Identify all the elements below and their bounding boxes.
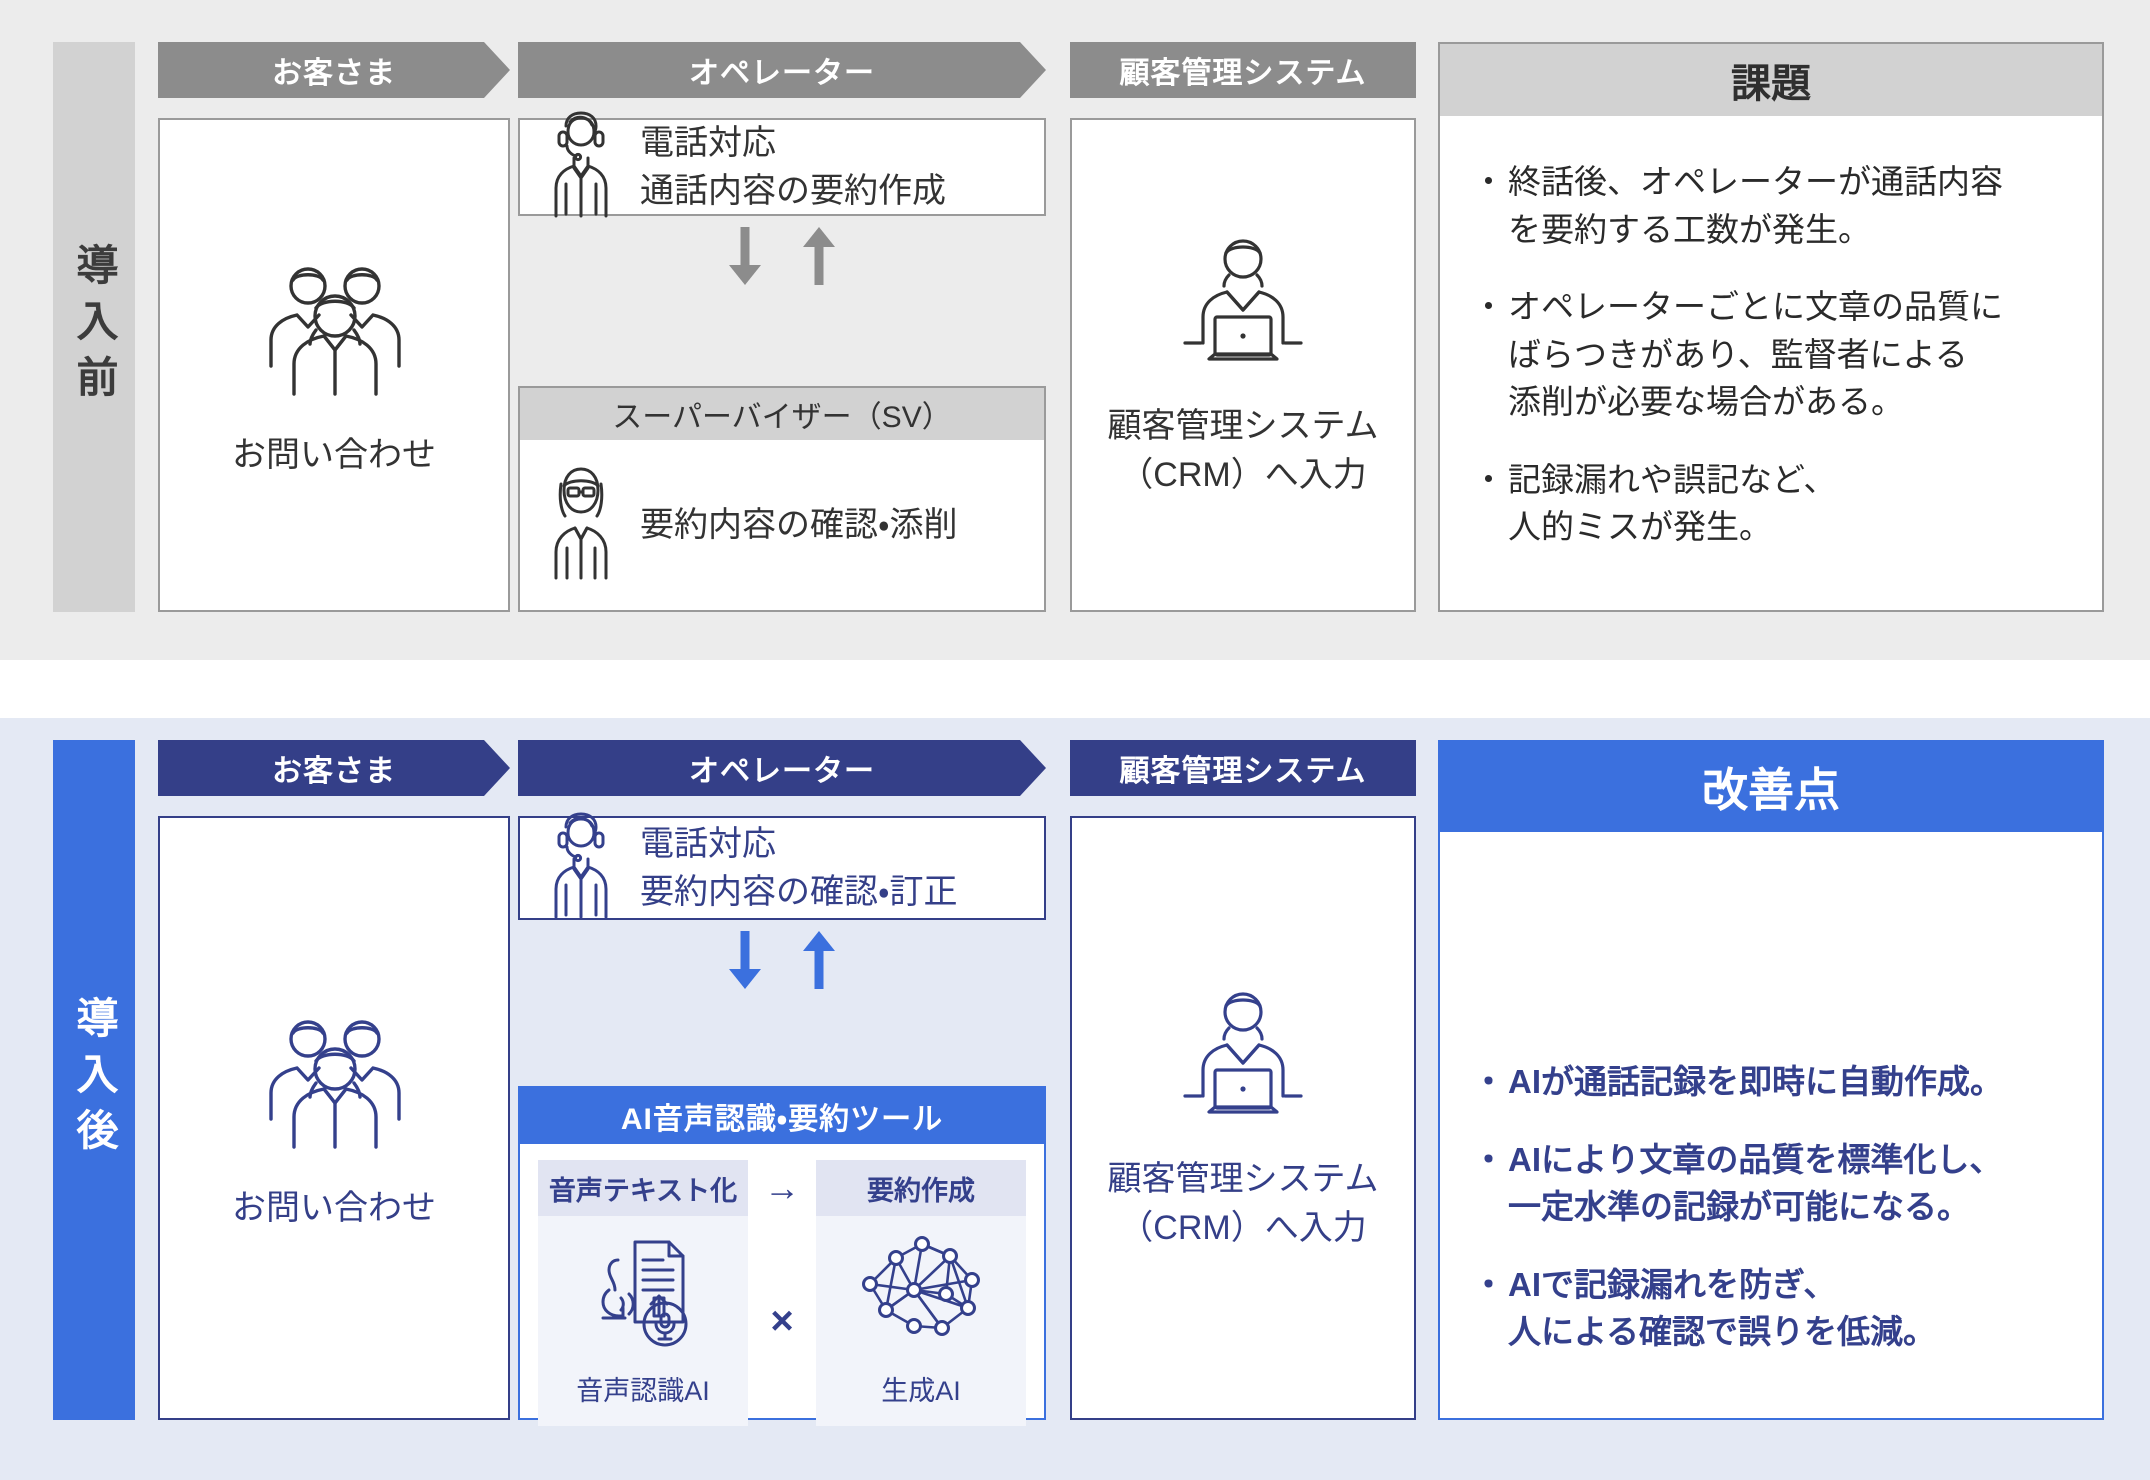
after-improvements-list: AIが通話記録を即時に自動作成。 AIにより文章の品質を標準化し、 一定水準の記… [1474, 1058, 2066, 1356]
arrow-down-icon [725, 225, 765, 287]
headset-operator-icon [544, 811, 618, 926]
before-exchange-arrows [518, 222, 1046, 290]
before-operator-card: 電話対応 通話内容の要約作成 [518, 118, 1046, 216]
before-lane-label-crm: 顧客管理システム [1119, 48, 1366, 92]
arrow-up-icon [799, 929, 839, 991]
arrow-right-icon: → [764, 1160, 800, 1216]
diagram-root: 導入前 お客さま オペレーター 顧客管理システム [0, 0, 2150, 1480]
list-item: AIにより文章の品質を標準化し、 一定水準の記録が可能になる。 [1474, 1136, 2066, 1231]
before-issues-panel-body: 終話後、オペレーターが通話内容 を要約する工数が発生。 オペレーターごとに文章の… [1438, 116, 2104, 612]
before-lane-header-crm: 顧客管理システム [1070, 42, 1416, 98]
ai-tool-column-head: 要約作成 [816, 1160, 1026, 1216]
voice-to-text-icon [581, 1232, 705, 1353]
ai-tool-box: AI音声認識・要約ツール 音声テキスト化 [518, 1086, 1046, 1420]
before-stage-label: 導入前 [53, 42, 135, 612]
list-item: 記録漏れや誤記など、 人的ミスが発生。 [1474, 456, 2066, 551]
before-issues-list: 終話後、オペレーターが通話内容 を要約する工数が発生。 オペレーターごとに文章の… [1474, 158, 2066, 551]
after-improvements-panel: 改善点 AIが通話記録を即時に自動作成。 AIにより文章の品質を標準化し、 一定… [1438, 740, 2104, 1420]
after-crm-card: 顧客管理システム （CRM）へ入力 [1070, 816, 1416, 1420]
before-crm-caption: 顧客管理システム （CRM）へ入力 [1108, 402, 1379, 499]
before-lane-label-customer: お客さま [272, 48, 396, 92]
after-improvements-panel-title: 改善点 [1438, 740, 2104, 832]
before-lane-header-operator: オペレーター [518, 42, 1046, 98]
female-supervisor-icon [544, 464, 618, 587]
after-lane-header-crm: 顧客管理システム [1070, 740, 1416, 796]
ai-tool-column-head: 音声テキスト化 [538, 1160, 748, 1216]
after-improvements-panel-body: AIが通話記録を即時に自動作成。 AIにより文章の品質を標準化し、 一定水準の記… [1438, 832, 2104, 1420]
headset-operator-icon [544, 110, 618, 225]
list-item: AIで記録漏れを防ぎ、 人による確認で誤りを低減。 [1474, 1261, 2066, 1356]
multiply-symbol: × [770, 1216, 793, 1426]
before-issues-panel-title: 課題 [1438, 42, 2104, 116]
before-crm-card: 顧客管理システム （CRM）へ入力 [1070, 118, 1416, 612]
after-operator-lines: 電話対応 要約内容の確認・訂正 [640, 820, 958, 917]
before-operator-lines: 電話対応 通話内容の要約作成 [640, 119, 946, 216]
before-lane-header-customer: お客さま [158, 42, 510, 98]
before-issues-panel: 課題 終話後、オペレーターが通話内容 を要約する工数が発生。 オペレーターごとに… [1438, 42, 2104, 612]
after-stage-label: 導入後 [53, 740, 135, 1420]
ai-tool-column-summary: 要約作成 [816, 1160, 1026, 1426]
after-lane-label-crm: 顧客管理システム [1119, 746, 1366, 790]
arrow-up-icon [799, 225, 839, 287]
before-supervisor-lines: 要約内容の確認・添削 [640, 501, 958, 549]
people-group-icon [249, 1003, 419, 1158]
after-lane-header-operator: オペレーター [518, 740, 1046, 796]
before-customer-caption: お問い合わせ [232, 431, 436, 479]
person-laptop-icon [1163, 984, 1323, 1129]
ai-tool-title: AI音声認識・要約ツール [520, 1088, 1044, 1144]
after-crm-caption: 顧客管理システム （CRM）へ入力 [1108, 1155, 1379, 1252]
after-lane-header-customer: お客さま [158, 740, 510, 796]
before-customer-card: お問い合わせ [158, 118, 510, 612]
before-supervisor-card: 要約内容の確認・添削 [518, 440, 1046, 612]
arrow-down-icon [725, 929, 765, 991]
list-item: オペレーターごとに文章の品質に ばらつきがあり、監督者による 添削が必要な場合が… [1474, 283, 2066, 426]
ai-tool-column-caption: 音声認識AI [576, 1369, 710, 1408]
ai-tool-column-caption: 生成AI [881, 1369, 961, 1408]
people-group-icon [249, 250, 419, 405]
ai-tool-column-speech-to-text: 音声テキスト化 [538, 1160, 748, 1426]
after-operator-card: 電話対応 要約内容の確認・訂正 [518, 816, 1046, 920]
after-exchange-arrows [518, 926, 1046, 994]
person-laptop-icon [1163, 231, 1323, 376]
before-supervisor-strip-label: スーパーバイザー（SV） [612, 392, 951, 436]
after-lane-label-customer: お客さま [272, 746, 396, 790]
list-item: 終話後、オペレーターが通話内容 を要約する工数が発生。 [1474, 158, 2066, 253]
before-lane-label-operator: オペレーター [689, 48, 875, 92]
after-lane-label-operator: オペレーター [689, 746, 875, 790]
before-supervisor-strip: スーパーバイザー（SV） [518, 386, 1046, 440]
after-customer-caption: お問い合わせ [232, 1184, 436, 1232]
list-item: AIが通話記録を即時に自動作成。 [1474, 1058, 2066, 1106]
ai-tool-connector: → × [748, 1160, 816, 1426]
after-customer-card: お問い合わせ [158, 816, 510, 1420]
neural-network-brain-icon [856, 1232, 986, 1349]
